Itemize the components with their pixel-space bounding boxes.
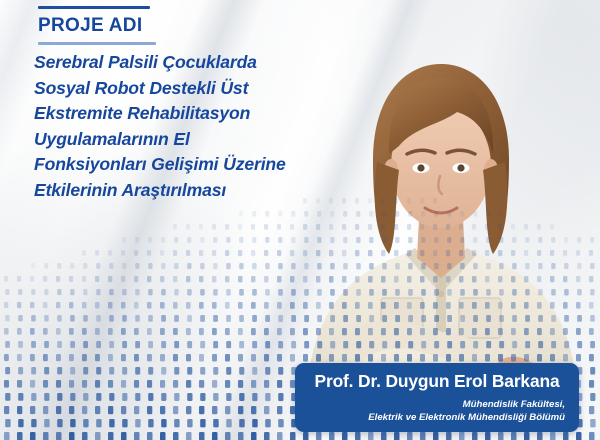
project-title-line: Fonksiyonları Gelişimi Üzerine: [34, 152, 334, 178]
project-title: Serebral Palsili Çocuklarda Sosyal Robot…: [34, 50, 334, 204]
researcher-affiliation: Mühendislik Fakültesi, Elektrik ve Elekt…: [309, 398, 565, 424]
label-rule-bottom: [38, 42, 156, 45]
project-title-line: Etkilerinin Araştırılması: [34, 178, 334, 204]
project-title-line: Serebral Palsili Çocuklarda: [34, 50, 334, 76]
researcher-name-banner: Prof. Dr. Duygun Erol Barkana Mühendisli…: [295, 363, 579, 432]
affiliation-line: Mühendislik Fakültesi,: [463, 399, 565, 410]
project-title-line: Ekstremite Rehabilitasyon: [34, 101, 334, 127]
section-label-text: PROJE ADI: [38, 14, 156, 38]
label-rule-top: [38, 6, 150, 9]
section-label-block: PROJE ADI: [38, 6, 156, 45]
project-title-line: Sosyal Robot Destekli Üst: [34, 76, 334, 102]
project-title-line: Uygulamalarının El: [34, 127, 334, 153]
project-poster: PROJE ADI Serebral Palsili Çocuklarda So…: [0, 0, 600, 440]
researcher-name: Prof. Dr. Duygun Erol Barkana: [309, 370, 565, 393]
affiliation-line: Elektrik ve Elektronik Mühendisliği Bölü…: [368, 412, 565, 423]
